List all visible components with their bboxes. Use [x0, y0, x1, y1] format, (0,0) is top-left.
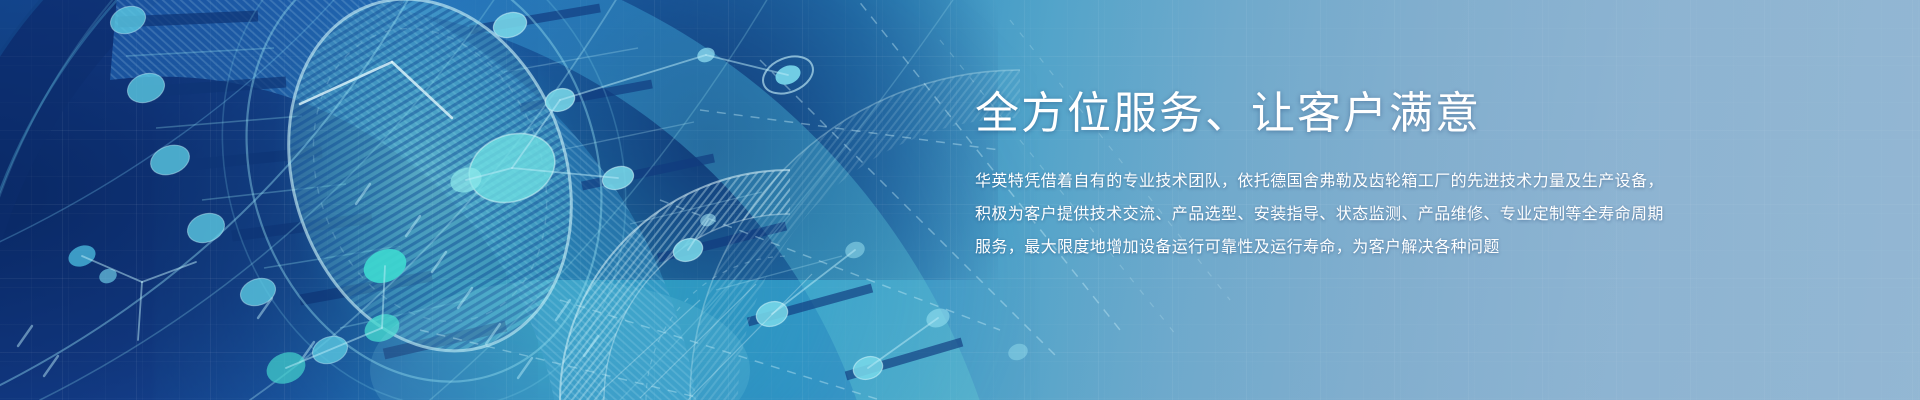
description-line-2: 积极为客户提供技术交流、产品选型、安装指导、状态监测、产品维修、专业定制等全寿命… [975, 198, 1675, 231]
description-line-1: 华英特凭借着自有的专业技术团队，依托德国舍弗勒及齿轮箱工厂的先进技术力量及生产设… [975, 165, 1675, 198]
banner-text-block: 全方位服务、让客户满意 华英特凭借着自有的专业技术团队，依托德国舍弗勒及齿轮箱工… [975, 86, 1675, 264]
banner-description: 华英特凭借着自有的专业技术团队，依托德国舍弗勒及齿轮箱工厂的先进技术力量及生产设… [975, 142, 1675, 264]
description-line-3: 服务，最大限度地增加设备运行可靠性及运行寿命，为客户解决各种问题 [975, 231, 1675, 264]
service-banner: 全方位服务、让客户满意 华英特凭借着自有的专业技术团队，依托德国舍弗勒及齿轮箱工… [0, 0, 1920, 400]
page-title: 全方位服务、让客户满意 [975, 86, 1675, 142]
